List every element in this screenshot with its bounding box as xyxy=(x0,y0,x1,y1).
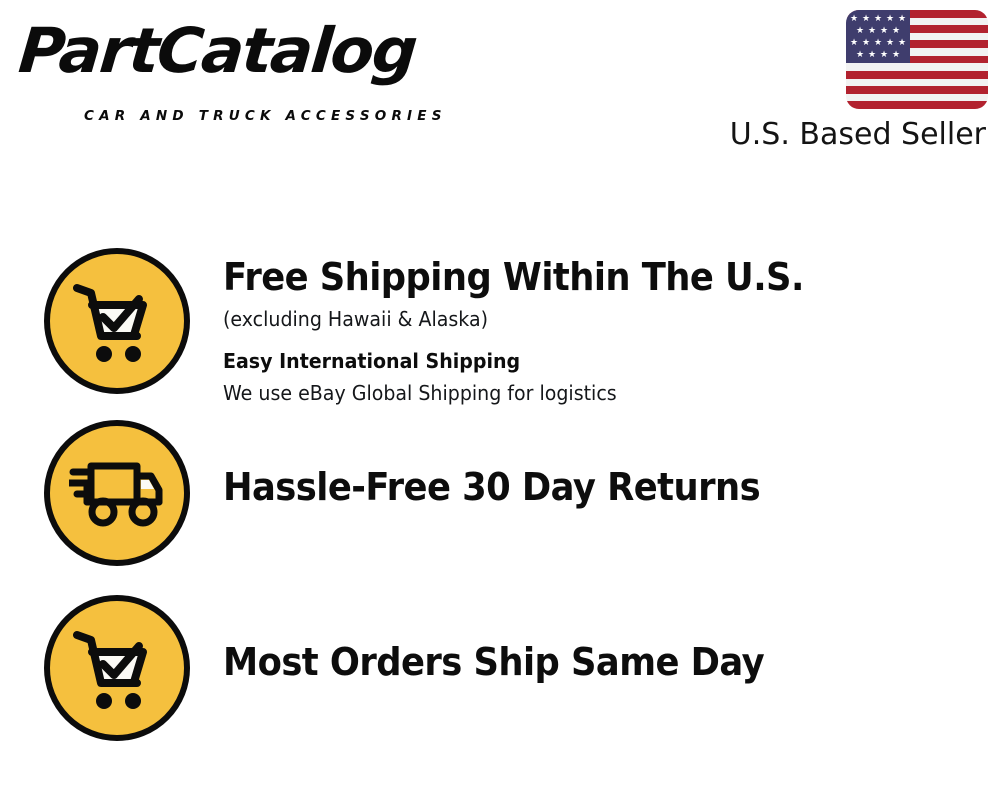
shopping-cart-check-icon xyxy=(44,248,190,394)
feature-row: Hassle-Free 30 Day Returns xyxy=(0,420,1000,566)
seller-badge-label: U.S. Based Seller xyxy=(698,116,988,154)
feature-headline: Hassle-Free 30 Day Returns xyxy=(223,464,946,510)
brand-tagline: CAR AND TRUCK ACCESSORIES xyxy=(84,108,447,124)
us-flag-icon: ★ ★ ★ ★ ★ ★ ★ ★ ★ ★ ★ ★ ★ ★ ★ ★ ★ ★ xyxy=(846,10,988,109)
feature-subhead: Easy International Shipping xyxy=(223,348,961,374)
feature-text: Hassle-Free 30 Day Returns xyxy=(223,420,1000,510)
feature-headline: Free Shipping Within The U.S. xyxy=(223,254,946,300)
feature-headline: Most Orders Ship Same Day xyxy=(223,639,946,685)
feature-row: Free Shipping Within The U.S. (excluding… xyxy=(0,248,1000,406)
feature-row: Most Orders Ship Same Day xyxy=(0,595,1000,741)
shopping-cart-check-icon xyxy=(44,595,190,741)
feature-text: Most Orders Ship Same Day xyxy=(223,595,1000,685)
feature-subhead-detail: We use eBay Global Shipping for logistic… xyxy=(223,380,961,406)
brand-wordmark: PartCatalog xyxy=(16,18,501,84)
brand-logo[interactable]: PartCatalog CAR AND TRUCK ACCESSORIES xyxy=(22,18,492,118)
seller-badge: ★ ★ ★ ★ ★ ★ ★ ★ ★ ★ ★ ★ ★ ★ ★ ★ ★ ★ U.S.… xyxy=(698,10,988,154)
feature-subline: (excluding Hawaii & Alaska) xyxy=(223,306,961,332)
delivery-truck-icon xyxy=(44,420,190,566)
page-header: PartCatalog CAR AND TRUCK ACCESSORIES ★ … xyxy=(0,0,1000,165)
feature-text: Free Shipping Within The U.S. (excluding… xyxy=(223,248,1000,406)
